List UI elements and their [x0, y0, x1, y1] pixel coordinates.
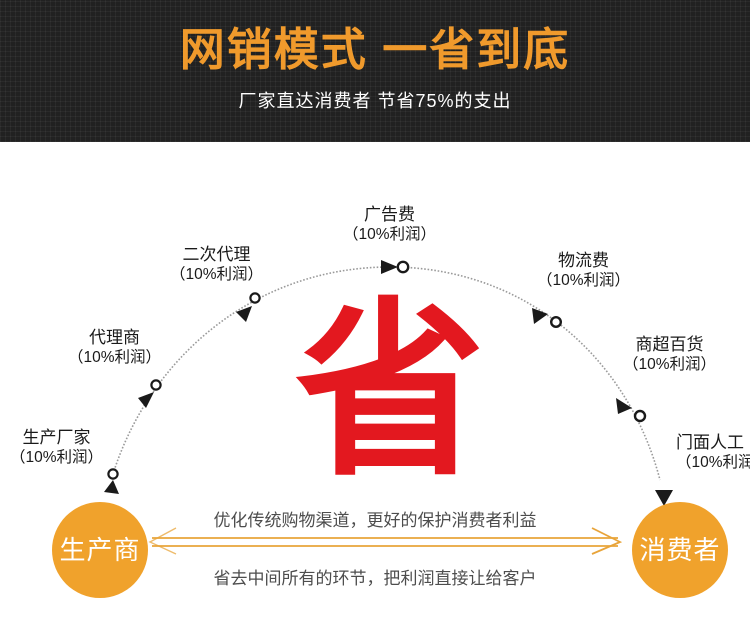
tagline-primary: 优化传统购物渠道，更好的保护消费者利益: [0, 509, 750, 533]
chain-node-name: 代理商: [89, 328, 140, 347]
chain-node-profit: （10%利润）: [68, 348, 161, 368]
tagline-secondary: 省去中间所有的环节，把利润直接让给客户: [0, 567, 750, 591]
chain-node-name: 二次代理: [183, 245, 251, 264]
distribution-chain-diagram: 省 生产厂家 （10%利润） 代理商 （10%利润） 二次代理 （10%利润） …: [0, 142, 750, 632]
page-subtitle: 厂家直达消费者 节省75%的支出: [0, 88, 750, 114]
chain-node-profit: （10%利润）: [170, 265, 263, 285]
chain-node-label-sub-agent: 二次代理 （10%利润）: [170, 244, 263, 285]
page-title: 网销模式 一省到底: [0, 22, 750, 78]
chain-node-name: 生产厂家: [23, 428, 91, 447]
chain-node-label-advertising: 广告费 （10%利润）: [343, 204, 436, 245]
chain-node-profit: （10%利润）: [10, 448, 103, 468]
chain-node-profit: （10%利润）: [537, 271, 630, 291]
chain-node-name: 门面人工: [676, 433, 744, 452]
chain-node-profit: （10%利润）: [623, 355, 716, 375]
chain-node-profit: （10%利润）: [343, 225, 436, 245]
chain-node-name: 商超百货: [636, 335, 704, 354]
chain-node-label-agent: 代理商 （10%利润）: [68, 327, 161, 368]
chain-node-label-storefront-labor: 门面人工 （10%利润: [676, 432, 750, 473]
chain-node-label-manufacturer: 生产厂家 （10%利润）: [10, 427, 103, 468]
chain-node-label-logistics: 物流费 （10%利润）: [537, 250, 630, 291]
chain-node-label-retail: 商超百货 （10%利润）: [623, 334, 716, 375]
chain-node-name: 物流费: [558, 251, 609, 270]
banner-header: 网销模式 一省到底 厂家直达消费者 节省75%的支出: [0, 0, 750, 142]
promo-banner: 网销模式 一省到底 厂家直达消费者 节省75%的支出: [0, 0, 750, 632]
chain-node-name: 广告费: [364, 205, 415, 224]
center-character: 省: [290, 297, 490, 487]
chain-node-profit: （10%利润: [676, 453, 750, 473]
